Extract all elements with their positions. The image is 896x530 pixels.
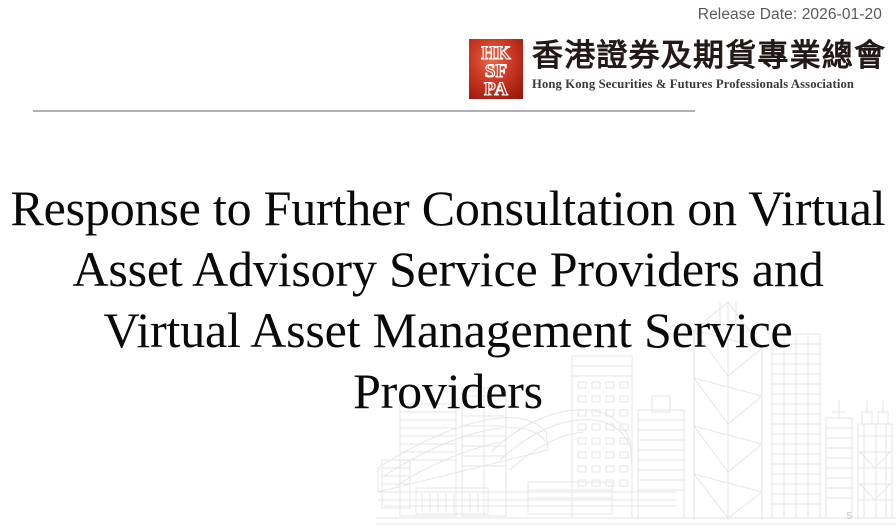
- convention-centre-shape: [378, 410, 676, 506]
- header-divider: [33, 110, 695, 112]
- hksfpa-logo-mark-icon: HK SF PA: [468, 38, 524, 100]
- logo-english-name: Hong Kong Securities & Futures Professio…: [532, 77, 886, 92]
- organization-logo: HK SF PA 香港證券及期貨專業總會 Hong Kong Securitie…: [468, 38, 886, 100]
- page-number: 5: [846, 511, 852, 522]
- lowrise-blocks-left: [382, 460, 612, 514]
- slide-canvas: Release Date: 2026-01-20 HK SF PA: [0, 0, 896, 530]
- logo-chinese-name: 香港證券及期貨專業總會: [532, 39, 886, 74]
- page-title: Response to Further Consultation on Virt…: [10, 178, 886, 422]
- svg-text:PA: PA: [484, 79, 508, 100]
- logo-text-block: 香港證券及期貨專業總會 Hong Kong Securities & Futur…: [532, 38, 886, 92]
- ground-lines: [376, 518, 896, 524]
- release-date-label: Release Date: 2026-01-20: [698, 6, 882, 24]
